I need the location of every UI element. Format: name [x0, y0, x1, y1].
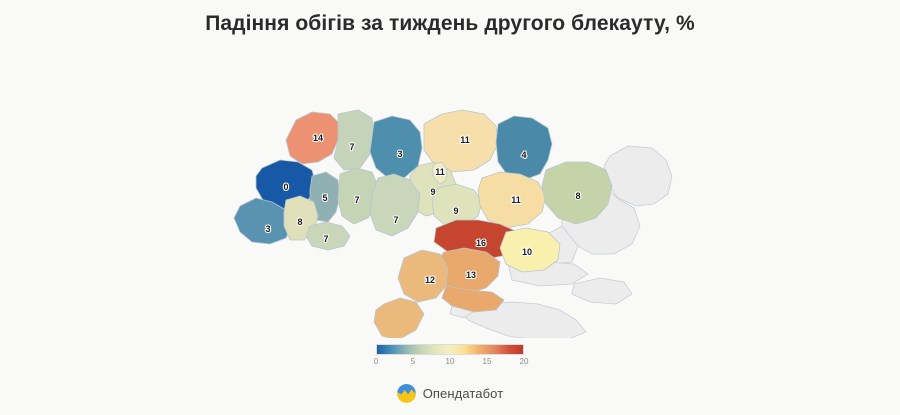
- map-figure: Падіння обігів за тиждень другого блекау…: [0, 0, 900, 415]
- ukraine-map-svg: 14 7 3 11 9 11 4 0 5 7 3 8 7 7 9 11 8 16…: [0, 48, 900, 338]
- region-label-kyiv-city: 11: [435, 167, 445, 177]
- legend-gradient-bar[interactable]: [376, 344, 524, 355]
- region-label-dnipropetrovsk: 16: [476, 238, 486, 248]
- region-label-odesa: 12: [425, 275, 435, 285]
- region-sumy[interactable]: [496, 116, 552, 180]
- color-legend: 05101520: [0, 344, 900, 376]
- region-label-chernivtsi: 7: [323, 234, 328, 244]
- region-vinnytsia[interactable]: [370, 174, 420, 236]
- legend-tick-15: 15: [483, 357, 492, 366]
- region-label-zakarpattia: 3: [265, 224, 270, 234]
- legend-tick-labels: 05101520: [376, 357, 524, 371]
- region-label-sumy: 4: [521, 150, 526, 160]
- brand-name-label: Опендатабот: [423, 386, 504, 401]
- legend-tick-20: 20: [520, 357, 529, 366]
- region-label-lviv: 0: [283, 182, 288, 192]
- legend-tick-0: 0: [374, 357, 378, 366]
- region-label-cherkasy: 9: [453, 206, 458, 216]
- region-label-rivne: 7: [349, 142, 354, 152]
- region-label-khmelnytskyi: 7: [354, 195, 359, 205]
- region-rivne[interactable]: [334, 110, 374, 170]
- region-zhytomyr[interactable]: [370, 116, 422, 178]
- region-label-vinnytsia: 7: [393, 215, 398, 225]
- map-regions: [234, 110, 612, 338]
- region-label-zhytomyr: 3: [397, 149, 402, 159]
- region-label-kharkiv: 8: [575, 191, 580, 201]
- region-label-chernihiv: 11: [460, 135, 470, 145]
- region-label-volyn: 14: [313, 133, 323, 143]
- region-label-kyiv-oblast: 9: [430, 187, 435, 197]
- region-label-zaporizhzhia: 10: [522, 247, 532, 257]
- region-kerch-area[interactable]: [572, 278, 632, 304]
- region-odesa[interactable]: [398, 250, 448, 302]
- choropleth-map: 14 7 3 11 9 11 4 0 5 7 3 8 7 7 9 11 8 16…: [0, 48, 900, 338]
- region-odesa-coast[interactable]: [374, 298, 424, 338]
- region-label-ivano-frankivsk: 8: [297, 217, 302, 227]
- legend-tick-5: 5: [411, 357, 415, 366]
- opendatabot-circle-icon: [397, 384, 416, 403]
- page-title: Падіння обігів за тиждень другого блекау…: [0, 12, 900, 36]
- region-label-ternopil: 5: [322, 193, 327, 203]
- legend-tick-10: 10: [446, 357, 455, 366]
- brand-footer: Опендатабот: [0, 384, 900, 408]
- region-label-poltava: 11: [511, 195, 521, 205]
- region-label-kirovohrad: 13: [466, 270, 476, 280]
